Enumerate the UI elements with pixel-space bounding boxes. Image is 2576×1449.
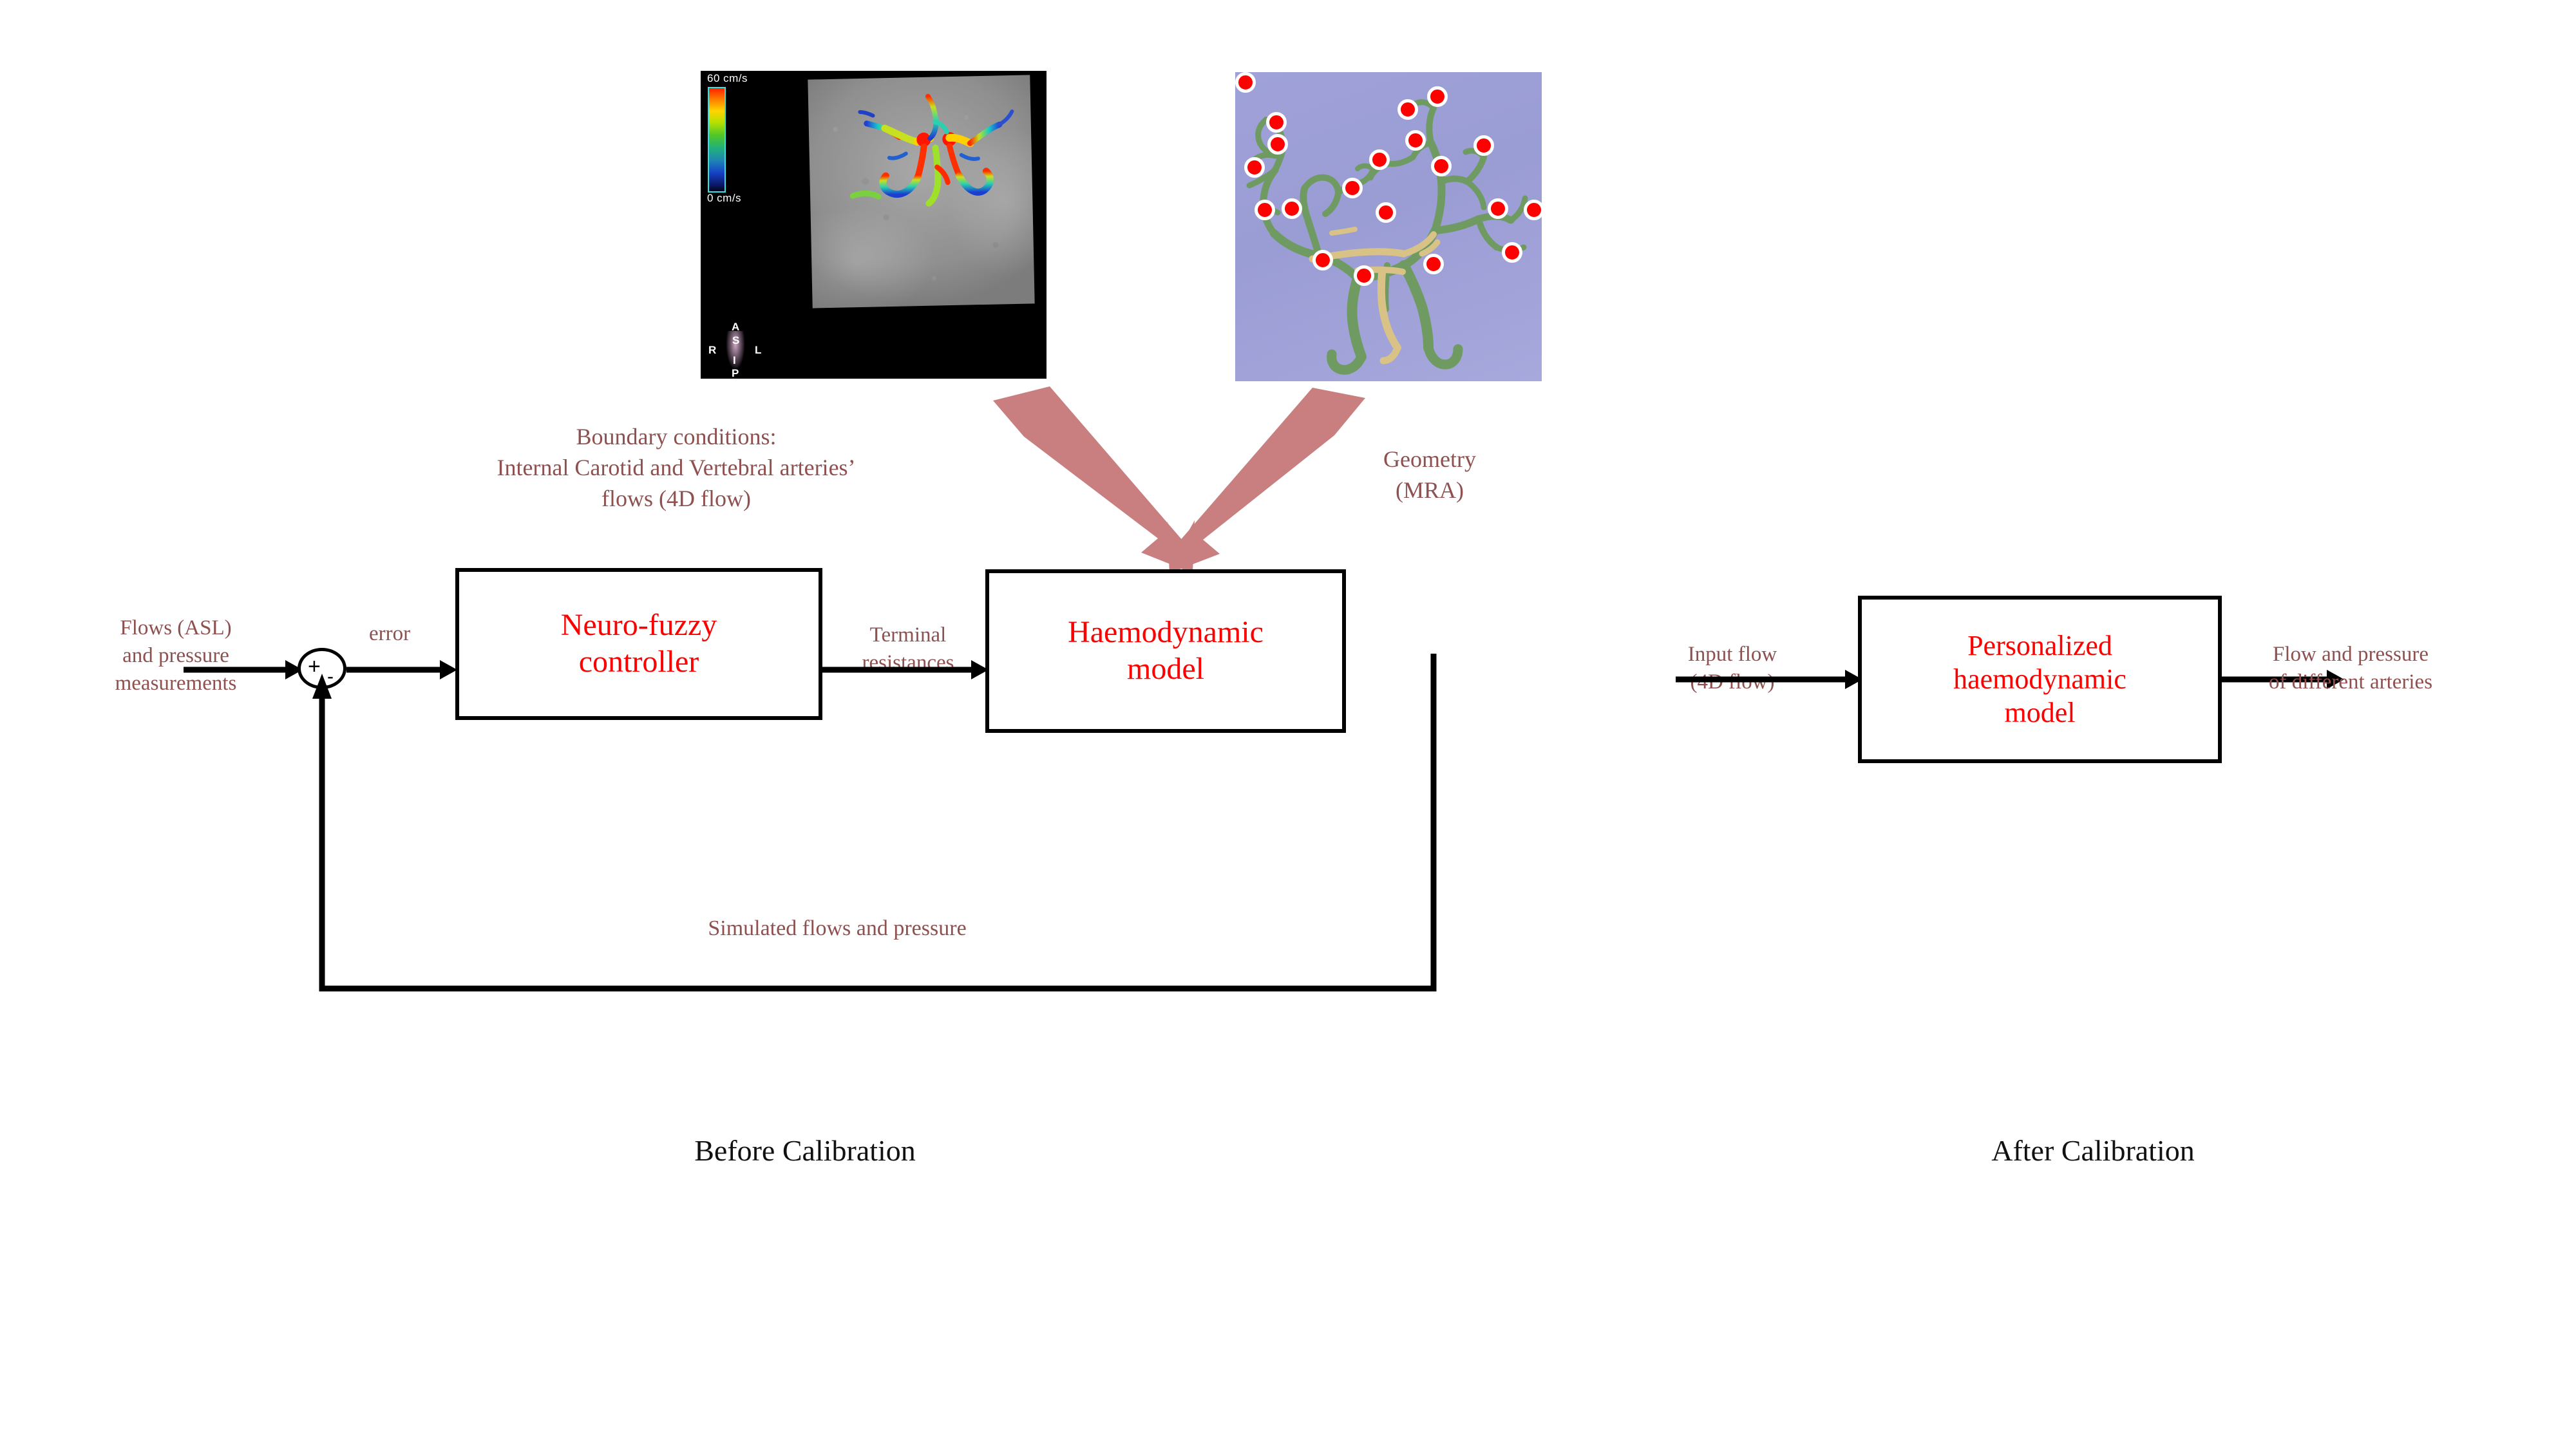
outlet-marker: [1235, 72, 1256, 93]
converging-arrows: [953, 380, 1404, 573]
after-calibration-caption: After Calibration: [1803, 1133, 2383, 1168]
mra-geometry-panel: [1235, 72, 1542, 381]
geom-line-2: (MRA): [1346, 475, 1513, 506]
outlet-marker: [1473, 135, 1494, 156]
orientation-anterior-label: A: [732, 321, 739, 334]
input-line-1: Flows (ASL): [82, 614, 269, 642]
input-arrow: [184, 657, 303, 683]
after-output-label: Flow and pressure of different arteries: [2215, 641, 2486, 696]
orientation-posterior-label: P: [732, 367, 739, 379]
velocity-vessel-overlay: [808, 75, 1034, 308]
colorbar-min-label: 0 cm/s: [707, 192, 741, 205]
tr-line-1: Terminal: [831, 621, 985, 649]
outlet-marker: [1282, 198, 1302, 219]
before-calibration-caption: Before Calibration: [515, 1133, 1095, 1168]
geometry-arrow: [1167, 388, 1365, 573]
after-input-line-1: Input flow: [1636, 641, 1829, 668]
outlet-marker: [1502, 242, 1522, 263]
outlet-marker: [1369, 149, 1390, 170]
outlet-marker: [1397, 99, 1418, 120]
outlet-marker: [1342, 178, 1363, 198]
personalized-haemodynamic-model-block: Personalized haemodynamic model: [1858, 596, 2222, 763]
bc-line-2: Internal Carotid and Vertebral arteries’: [451, 453, 902, 484]
bc-line-1: Boundary conditions:: [451, 422, 902, 453]
outlet-marker: [1376, 202, 1396, 223]
after-input-arrow: [1676, 667, 1862, 692]
colorbar-max-label: 60 cm/s: [707, 72, 748, 85]
outlet-marker: [1312, 250, 1333, 270]
ph-line-1: Personalized: [1953, 629, 2126, 663]
outlet-marker: [1427, 86, 1448, 107]
boundary-conditions-arrow: [993, 386, 1195, 573]
after-out-line-1: Flow and pressure: [2215, 641, 2486, 668]
outlet-marker: [1431, 156, 1452, 176]
outlet-marker: [1266, 112, 1287, 133]
orientation-right-label: R: [708, 344, 716, 357]
geom-line-1: Geometry: [1346, 444, 1513, 475]
outlet-marker: [1423, 254, 1444, 274]
outlet-marker: [1244, 157, 1265, 178]
outlet-marker: [1405, 130, 1426, 151]
outlet-marker: [1354, 265, 1374, 286]
mri-4d-flow-panel: 60 cm/s 0 cm/s A S I P R L: [701, 71, 1046, 379]
outlet-marker: [1267, 134, 1288, 155]
hm-line-1: Haemodynamic: [1068, 614, 1264, 651]
outlet-marker: [1488, 198, 1508, 219]
outlet-marker: [1255, 200, 1275, 220]
nf-line-1: Neuro-fuzzy: [561, 607, 717, 644]
orientation-left-label: L: [755, 344, 761, 357]
input-measurements-label: Flows (ASL) and pressure measurements: [82, 614, 269, 697]
geometry-label: Geometry (MRA): [1346, 444, 1513, 506]
boundary-conditions-label: Boundary conditions: Internal Carotid an…: [451, 422, 902, 515]
feedback-label: Simulated flows and pressure: [567, 914, 1108, 943]
ph-line-3: model: [1953, 696, 2126, 730]
orientation-inferior-label: I: [733, 354, 736, 367]
brain-slice-image: [808, 75, 1034, 308]
bc-line-3: flows (4D flow): [451, 484, 902, 515]
velocity-colorbar: [708, 87, 726, 193]
outlet-marker: [1524, 200, 1542, 220]
feedback-path: [293, 650, 1452, 1011]
orientation-superior-label: S: [732, 334, 739, 347]
error-label: error: [332, 620, 448, 648]
after-out-line-2: of different arteries: [2215, 668, 2486, 696]
ph-line-2: haemodynamic: [1953, 663, 2126, 696]
